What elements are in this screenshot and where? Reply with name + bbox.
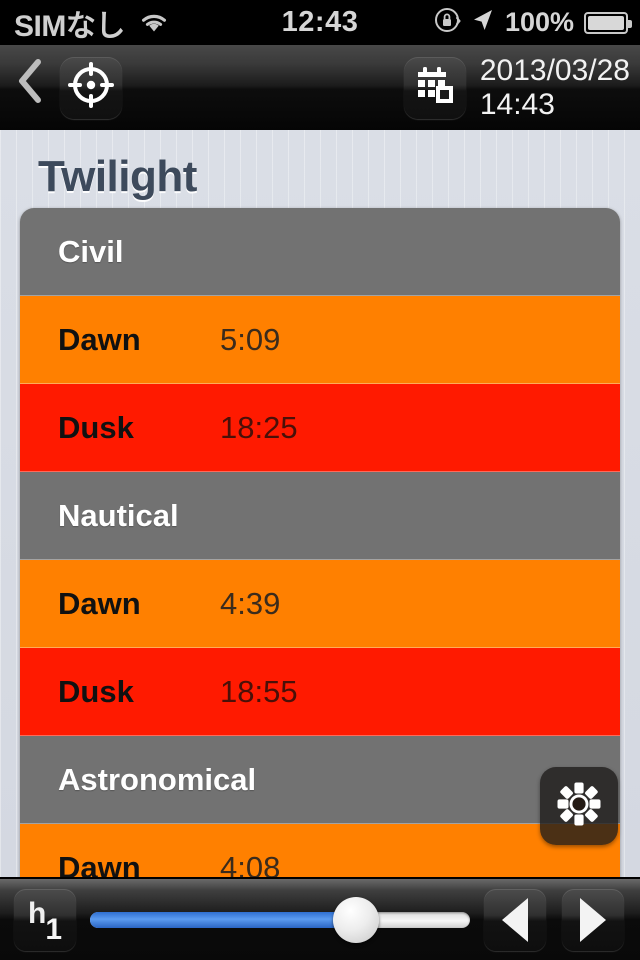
gear-icon (553, 778, 605, 835)
row-value: 4:08 (220, 850, 280, 878)
carrier-label: SIMなし (14, 1, 125, 45)
status-bar-left: SIMなし (0, 1, 215, 45)
bottom-toolbar: h 1 (0, 877, 640, 960)
chevron-left-icon (16, 57, 44, 112)
battery-percent-label: 100% (505, 7, 574, 38)
row-label: Dawn (20, 322, 220, 358)
wifi-icon (139, 12, 169, 34)
triangle-right-icon (580, 898, 606, 942)
status-bar-right: 100% (425, 6, 640, 39)
triangle-left-icon (502, 898, 528, 942)
time-slider[interactable] (76, 889, 484, 951)
row-label: Dawn (20, 586, 220, 622)
row-value: 4:39 (220, 586, 280, 622)
table-row[interactable]: Dawn4:08 (20, 824, 620, 877)
table-section-header[interactable]: Civil (20, 208, 620, 296)
table-section-header[interactable]: Astronomical (20, 736, 620, 824)
time-step-button[interactable]: h 1 (14, 889, 76, 951)
status-bar-center: 12:43 (215, 6, 425, 39)
row-label: Dusk (20, 410, 220, 446)
settings-button[interactable] (540, 767, 618, 845)
row-value: 18:55 (220, 674, 298, 710)
time-step-amount-label: 1 (45, 913, 62, 947)
selected-datetime[interactable]: 2013/03/28 14:43 (466, 54, 640, 122)
selected-time: 14:43 (480, 88, 630, 122)
table-row[interactable]: Dusk18:55 (20, 648, 620, 736)
navigation-bar: 2013/03/28 14:43 (0, 45, 640, 130)
row-label: Astronomical (20, 762, 220, 798)
row-label: Civil (20, 234, 220, 270)
status-bar: SIMなし 12:43 100% (0, 0, 640, 45)
locate-me-button[interactable] (60, 57, 122, 119)
back-button[interactable] (0, 45, 60, 130)
previous-button[interactable] (484, 889, 546, 951)
row-value: 18:25 (220, 410, 298, 446)
calendar-icon (412, 62, 458, 113)
time-slider-fill (90, 912, 356, 928)
status-time: 12:43 (282, 6, 359, 38)
time-slider-track[interactable] (90, 912, 470, 928)
table-row[interactable]: Dawn5:09 (20, 296, 620, 384)
selected-date: 2013/03/28 (480, 54, 630, 88)
table-section-header[interactable]: Nautical (20, 472, 620, 560)
calendar-button[interactable] (404, 57, 466, 119)
time-slider-knob[interactable] (333, 897, 379, 943)
content-area: Twilight CivilDawn5:09Dusk18:25NauticalD… (0, 130, 640, 877)
row-label: Nautical (20, 498, 220, 534)
page-title: Twilight (0, 130, 640, 202)
time-step-unit-label: h (28, 897, 46, 931)
twilight-table: CivilDawn5:09Dusk18:25NauticalDawn4:39Du… (20, 208, 620, 877)
battery-full-icon (584, 12, 628, 34)
rotation-lock-icon (433, 6, 461, 39)
row-label: Dawn (20, 850, 220, 878)
table-row[interactable]: Dawn4:39 (20, 560, 620, 648)
row-value: 5:09 (220, 322, 280, 358)
location-arrow-icon (471, 7, 495, 38)
row-label: Dusk (20, 674, 220, 710)
next-button[interactable] (562, 889, 624, 951)
crosshair-target-icon (68, 62, 114, 113)
table-row[interactable]: Dusk18:25 (20, 384, 620, 472)
